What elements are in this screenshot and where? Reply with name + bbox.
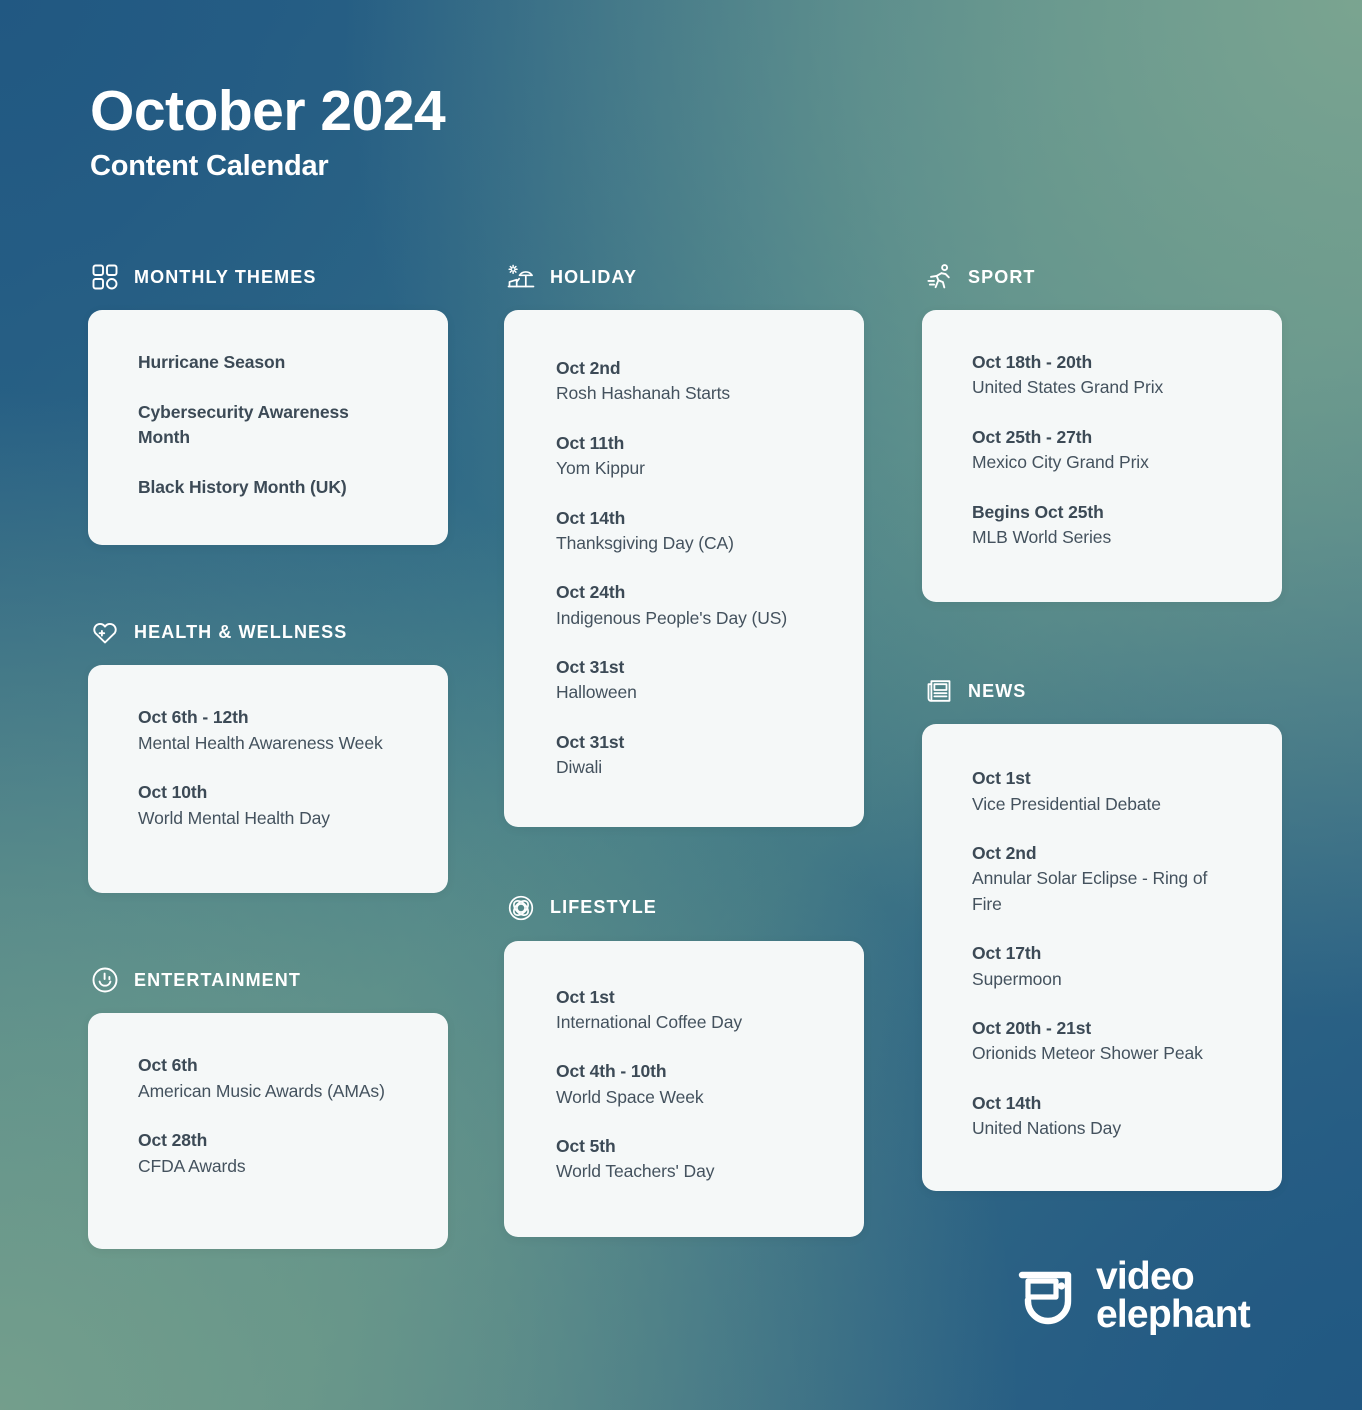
card-holiday: Oct 2nd Rosh Hashanah Starts Oct 11th Yo… [504, 310, 864, 827]
entry-label: Orionids Meteor Shower Peak [972, 1041, 1238, 1066]
entry-label: Thanksgiving Day (CA) [556, 531, 820, 556]
calendar-entry: Oct 1st Vice Presidential Debate [972, 766, 1238, 817]
calendar-entry: Oct 18th - 20th United States Grand Prix [972, 350, 1238, 401]
card-monthly-themes: Hurricane Season Cybersecurity Awareness… [88, 310, 448, 545]
calendar-entry: Oct 11th Yom Kippur [556, 431, 820, 482]
section-title-holiday: HOLIDAY [550, 267, 637, 288]
calendar-entry: Oct 24th Indigenous People's Day (US) [556, 580, 820, 631]
calendar-entry: Oct 4th - 10th World Space Week [556, 1059, 820, 1110]
section-entertainment: ENTERTAINMENT Oct 6th American Music Awa… [88, 961, 448, 1249]
card-health-wellness: Oct 6th - 12th Mental Health Awareness W… [88, 665, 448, 893]
entry-label: Annular Solar Eclipse - Ring of Fire [972, 866, 1238, 917]
entry-label: Yom Kippur [556, 456, 820, 481]
entry-label: MLB World Series [972, 525, 1238, 550]
calendar-entry: Oct 28th CFDA Awards [138, 1128, 404, 1179]
logo-line-1: video [1096, 1258, 1250, 1296]
entry-date: Oct 20th - 21st [972, 1016, 1238, 1041]
entry-label: Diwali [556, 755, 820, 780]
theme-item: Black History Month (UK) [138, 475, 404, 500]
spacer [88, 893, 448, 961]
calendar-entry: Oct 14th Thanksgiving Day (CA) [556, 506, 820, 557]
calendar-entry: Oct 6th American Music Awards (AMAs) [138, 1053, 404, 1104]
spacer [922, 602, 1282, 672]
entry-date: Oct 5th [556, 1134, 820, 1159]
entry-label: World Mental Health Day [138, 806, 404, 831]
calendar-entry: Oct 10th World Mental Health Day [138, 780, 404, 831]
elephant-logo-icon [1016, 1265, 1078, 1327]
section-title-monthly-themes: MONTHLY THEMES [134, 267, 316, 288]
video-elephant-logo: video elephant [1016, 1258, 1250, 1334]
calendar-entry: Oct 17th Supermoon [972, 941, 1238, 992]
globe-flower-icon [506, 893, 536, 923]
entry-label: International Coffee Day [556, 1010, 820, 1035]
page-subtitle: Content Calendar [90, 150, 445, 183]
section-header-health-wellness: HEALTH & WELLNESS [90, 613, 448, 651]
entry-date: Oct 28th [138, 1128, 404, 1153]
calendar-entry: Oct 14th United Nations Day [972, 1091, 1238, 1142]
entry-label: Mexico City Grand Prix [972, 450, 1238, 475]
entry-label: American Music Awards (AMAs) [138, 1079, 404, 1104]
column-middle: HOLIDAY Oct 2nd Rosh Hashanah Starts Oct… [504, 258, 864, 1237]
calendar-entry: Oct 31st Diwali [556, 730, 820, 781]
grid-squares-icon [90, 262, 120, 292]
section-monthly-themes: MONTHLY THEMES Hurricane Season Cybersec… [88, 258, 448, 545]
calendar-entry: Oct 6th - 12th Mental Health Awareness W… [138, 705, 404, 756]
column-left: MONTHLY THEMES Hurricane Season Cybersec… [88, 258, 448, 1249]
section-title-news: NEWS [968, 681, 1026, 702]
section-title-entertainment: ENTERTAINMENT [134, 970, 301, 991]
entry-date: Oct 6th [138, 1053, 404, 1078]
entry-label: World Teachers' Day [556, 1159, 820, 1184]
beach-umbrella-icon [506, 262, 536, 292]
card-news: Oct 1st Vice Presidential Debate Oct 2nd… [922, 724, 1282, 1191]
card-sport: Oct 18th - 20th United States Grand Prix… [922, 310, 1282, 602]
section-news: NEWS Oct 1st Vice Presidential Debate Oc… [922, 672, 1282, 1191]
entry-label: Rosh Hashanah Starts [556, 381, 820, 406]
section-title-health-wellness: HEALTH & WELLNESS [134, 622, 347, 643]
entry-label: World Space Week [556, 1085, 820, 1110]
entry-label: Supermoon [972, 967, 1238, 992]
theme-item: Hurricane Season [138, 350, 404, 375]
calendar-entry: Oct 5th World Teachers' Day [556, 1134, 820, 1185]
calendar-entry: Oct 31st Halloween [556, 655, 820, 706]
newspaper-icon [924, 676, 954, 706]
section-header-holiday: HOLIDAY [506, 258, 864, 296]
entry-label: Halloween [556, 680, 820, 705]
calendar-entry: Oct 25th - 27th Mexico City Grand Prix [972, 425, 1238, 476]
running-person-icon [924, 262, 954, 292]
entry-date: Oct 4th - 10th [556, 1059, 820, 1084]
entry-date: Oct 31st [556, 730, 820, 755]
entry-date: Oct 2nd [972, 841, 1238, 866]
calendar-entry: Begins Oct 25th MLB World Series [972, 500, 1238, 551]
calendar-entry: Oct 2nd Annular Solar Eclipse - Ring of … [972, 841, 1238, 917]
entry-label: Vice Presidential Debate [972, 792, 1238, 817]
column-right: SPORT Oct 18th - 20th United States Gran… [922, 258, 1282, 1191]
content-calendar-page: October 2024 Content Calendar MONTHLY TH… [0, 0, 1362, 1410]
entry-date: Oct 10th [138, 780, 404, 805]
section-header-lifestyle: LIFESTYLE [506, 889, 864, 927]
entry-label: United Nations Day [972, 1116, 1238, 1141]
entry-date: Oct 14th [972, 1091, 1238, 1116]
entry-label: Mental Health Awareness Week [138, 731, 404, 756]
section-header-sport: SPORT [924, 258, 1282, 296]
section-holiday: HOLIDAY Oct 2nd Rosh Hashanah Starts Oct… [504, 258, 864, 827]
entry-date: Oct 14th [556, 506, 820, 531]
entry-date: Oct 6th - 12th [138, 705, 404, 730]
spacer [504, 827, 864, 889]
section-header-news: NEWS [924, 672, 1282, 710]
section-title-lifestyle: LIFESTYLE [550, 897, 657, 918]
entry-date: Oct 18th - 20th [972, 350, 1238, 375]
calendar-entry: Oct 2nd Rosh Hashanah Starts [556, 356, 820, 407]
entry-date: Oct 17th [972, 941, 1238, 966]
page-title: October 2024 [90, 82, 445, 142]
entry-label: CFDA Awards [138, 1154, 404, 1179]
calendar-entry: Oct 20th - 21st Orionids Meteor Shower P… [972, 1016, 1238, 1067]
section-title-sport: SPORT [968, 267, 1036, 288]
section-lifestyle: LIFESTYLE Oct 1st International Coffee D… [504, 889, 864, 1237]
section-sport: SPORT Oct 18th - 20th United States Gran… [922, 258, 1282, 602]
entry-date: Oct 24th [556, 580, 820, 605]
page-header: October 2024 Content Calendar [90, 82, 445, 183]
smiley-face-icon [90, 965, 120, 995]
section-health-wellness: HEALTH & WELLNESS Oct 6th - 12th Mental … [88, 613, 448, 893]
card-lifestyle: Oct 1st International Coffee Day Oct 4th… [504, 941, 864, 1237]
card-entertainment: Oct 6th American Music Awards (AMAs) Oct… [88, 1013, 448, 1249]
logo-wordmark: video elephant [1096, 1258, 1250, 1334]
entry-date: Oct 1st [556, 985, 820, 1010]
calendar-entry: Oct 1st International Coffee Day [556, 985, 820, 1036]
entry-label: Indigenous People's Day (US) [556, 606, 820, 631]
entry-date: Oct 31st [556, 655, 820, 680]
entry-date: Begins Oct 25th [972, 500, 1238, 525]
section-header-entertainment: ENTERTAINMENT [90, 961, 448, 999]
theme-item: Cybersecurity Awareness Month [138, 400, 404, 450]
logo-line-2: elephant [1096, 1296, 1250, 1334]
entry-label: United States Grand Prix [972, 375, 1238, 400]
entry-date: Oct 11th [556, 431, 820, 456]
entry-date: Oct 2nd [556, 356, 820, 381]
heart-plus-icon [90, 617, 120, 647]
section-header-monthly-themes: MONTHLY THEMES [90, 258, 448, 296]
entry-date: Oct 1st [972, 766, 1238, 791]
spacer [88, 545, 448, 613]
entry-date: Oct 25th - 27th [972, 425, 1238, 450]
